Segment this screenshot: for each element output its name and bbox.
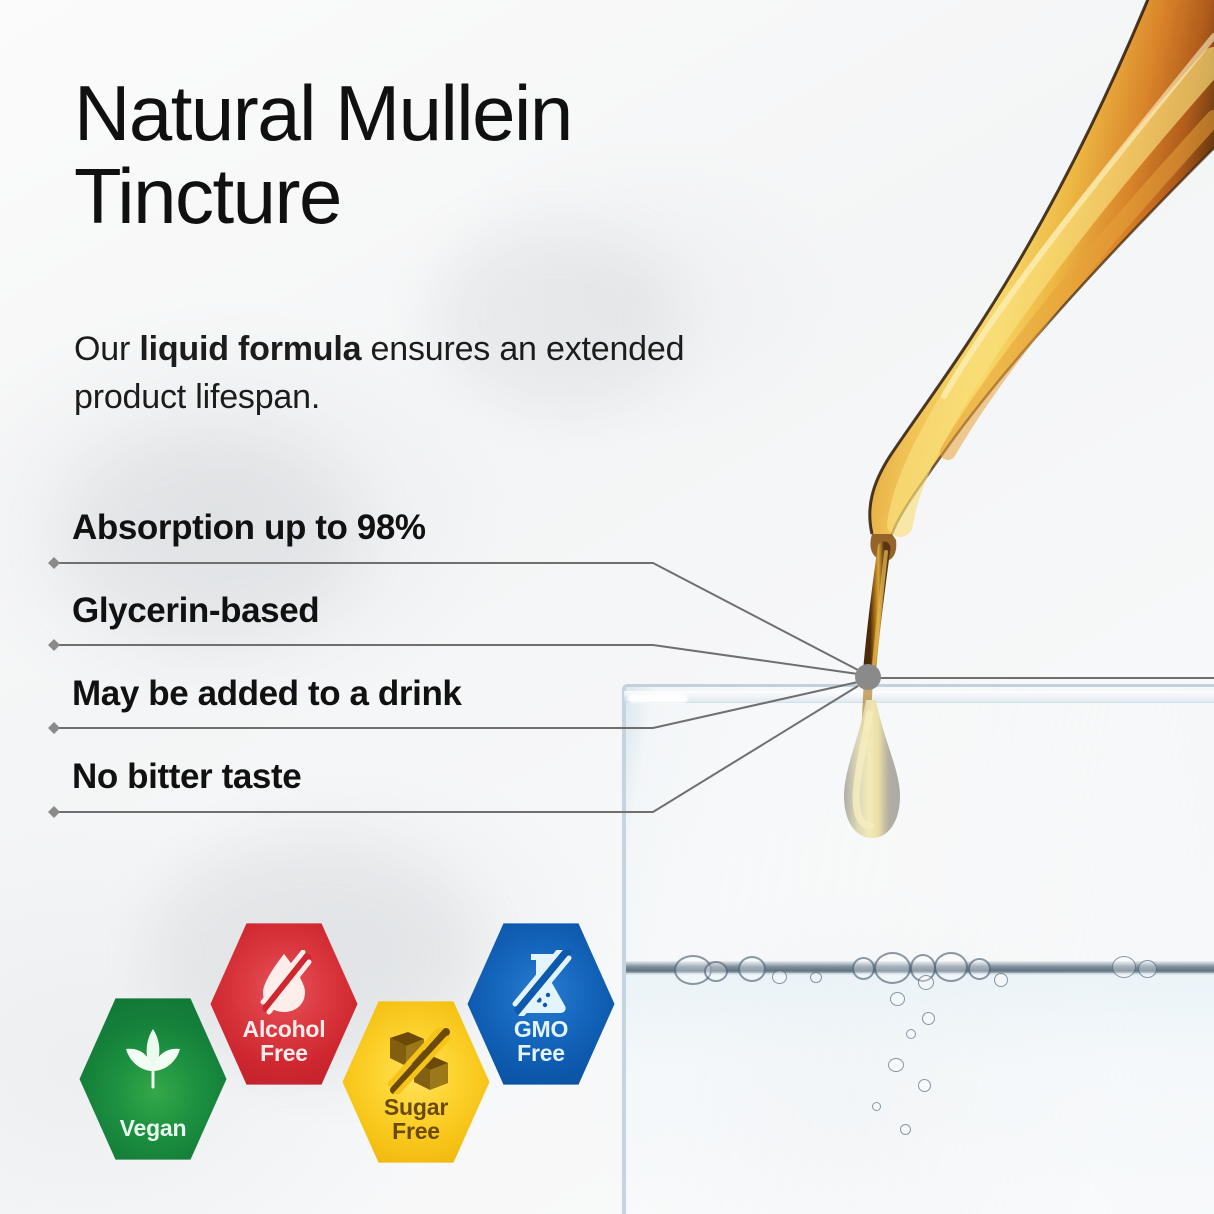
badge-gmo-free-label: GMOFree — [514, 1018, 568, 1066]
subtitle-before: Our — [74, 330, 139, 368]
bubble — [994, 973, 1008, 987]
feature-label-taste: No bitter taste — [72, 757, 301, 797]
sugar-cubes-slash-icon — [380, 1028, 452, 1094]
badge-alcohol-free-label: AlcoholFree — [243, 1018, 326, 1066]
bubble — [968, 958, 991, 980]
bubble — [922, 1012, 935, 1025]
bubble — [934, 952, 968, 982]
bubble — [888, 1058, 904, 1072]
bubble — [872, 1102, 881, 1111]
bubble — [918, 975, 934, 990]
page-title: Natural Mullein Tincture — [74, 72, 774, 237]
bubble — [890, 992, 905, 1006]
infographic-canvas: Natural Mullein Tincture Our liquid form… — [0, 0, 1214, 1214]
bubble — [704, 961, 728, 982]
bubble — [810, 972, 822, 983]
leaf-icon — [118, 1025, 188, 1091]
feature-label-absorption: Absorption up to 98% — [72, 508, 426, 548]
bubble — [1112, 956, 1136, 978]
bubble — [772, 970, 787, 984]
glass-rim-highlight — [628, 694, 688, 703]
bubble — [918, 1079, 931, 1092]
feature-label-drink: May be added to a drink — [72, 674, 462, 714]
subtitle-emphasis: liquid formula — [139, 330, 361, 368]
flask-slash-icon — [507, 950, 575, 1016]
bubble — [1138, 960, 1157, 978]
bubble — [900, 1124, 911, 1135]
glass-rim — [624, 691, 1214, 703]
bubble — [852, 957, 875, 980]
badge-vegan-label: Vegan — [120, 1117, 187, 1141]
bubble — [906, 1029, 916, 1039]
water-body — [626, 973, 1214, 1214]
droplet-slash-icon — [251, 950, 317, 1016]
feature-label-glycerin: Glycerin-based — [72, 591, 319, 631]
subtitle: Our liquid formula ensures an extended p… — [74, 325, 694, 422]
bubble — [874, 952, 911, 984]
glass-of-water — [622, 684, 1214, 1214]
badge-sugar-free-label: SugarFree — [384, 1096, 448, 1144]
bubble — [738, 956, 766, 982]
